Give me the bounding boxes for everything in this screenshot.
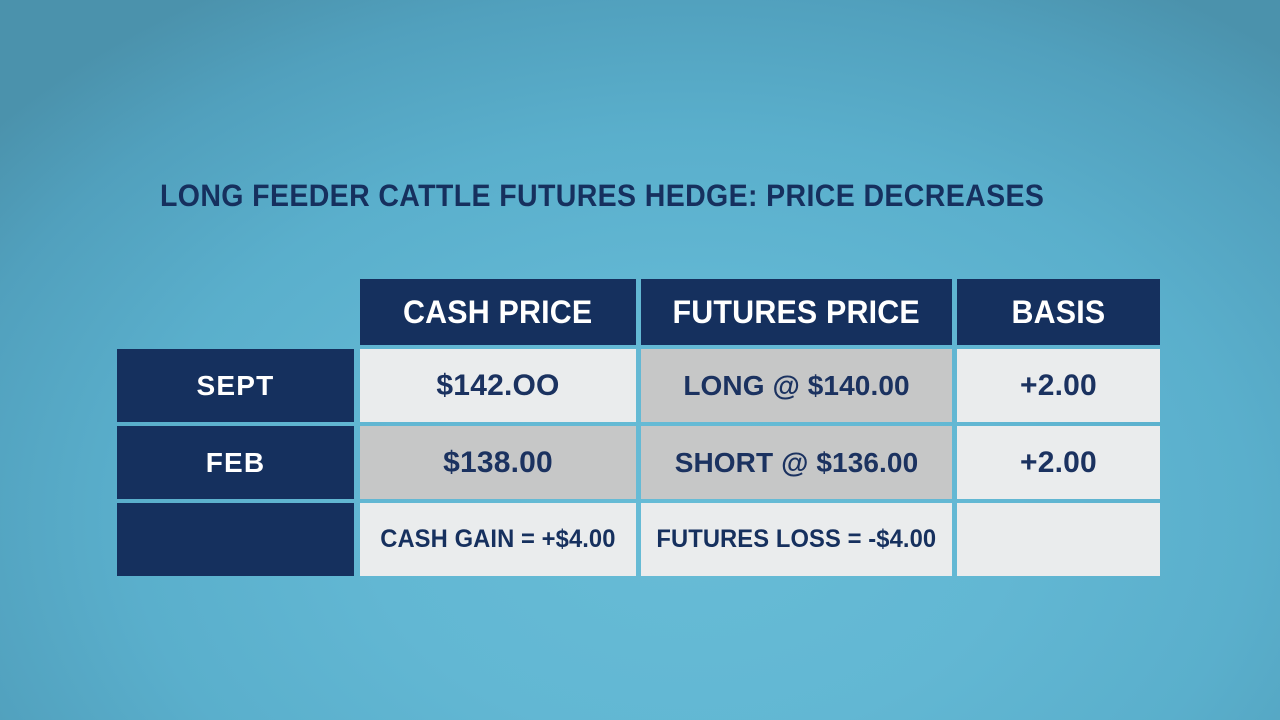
cell-sept-cash-price: $142.OO [360, 349, 636, 422]
row-label-feb: FEB [117, 426, 354, 499]
header-futures-price: FUTURES PRICE [641, 279, 952, 345]
cell-sept-basis: +2.00 [957, 349, 1160, 422]
cell-sept-basis-text: +2.00 [1020, 369, 1097, 403]
table-row: FEB $138.00 SHORT @ $136.00 +2.00 [117, 426, 1160, 499]
row-label-sept: SEPT [117, 349, 354, 422]
summary-futures-loss-text: FUTURES LOSS = -$4.00 [657, 525, 937, 554]
header-cash-price-label: CASH PRICE [403, 294, 592, 331]
cell-feb-futures-price: SHORT @ $136.00 [641, 426, 952, 499]
cell-sept-futures-price: LONG @ $140.00 [641, 349, 952, 422]
hedge-comparison-table: CASH PRICE FUTURES PRICE BASIS SEPT $142… [117, 279, 1160, 576]
cell-feb-futures-price-text: SHORT @ $136.00 [675, 447, 919, 479]
slide-canvas: LONG FEEDER CATTLE FUTURES HEDGE: PRICE … [0, 0, 1280, 720]
summary-cash-gain-text: CASH GAIN = +$4.00 [380, 525, 615, 554]
summary-label-cell [117, 503, 354, 576]
summary-futures-loss: FUTURES LOSS = -$4.00 [641, 503, 952, 576]
table-summary-row: CASH GAIN = +$4.00 FUTURES LOSS = -$4.00 [117, 503, 1160, 576]
header-cash-price: CASH PRICE [360, 279, 636, 345]
table-header-row: CASH PRICE FUTURES PRICE BASIS [117, 279, 1160, 345]
summary-basis-cell [957, 503, 1160, 576]
cell-sept-cash-price-text: $142.OO [436, 369, 559, 403]
summary-cash-gain: CASH GAIN = +$4.00 [360, 503, 636, 576]
cell-feb-cash-price-text: $138.00 [443, 446, 553, 480]
header-basis: BASIS [957, 279, 1160, 345]
header-corner-cell [117, 279, 354, 345]
table-row: SEPT $142.OO LONG @ $140.00 +2.00 [117, 349, 1160, 422]
row-label-feb-text: FEB [206, 447, 266, 479]
cell-sept-futures-price-text: LONG @ $140.00 [683, 370, 909, 402]
header-futures-price-label: FUTURES PRICE [673, 294, 920, 331]
row-label-sept-text: SEPT [197, 370, 275, 402]
cell-feb-cash-price: $138.00 [360, 426, 636, 499]
cell-feb-basis: +2.00 [957, 426, 1160, 499]
page-title: LONG FEEDER CATTLE FUTURES HEDGE: PRICE … [160, 176, 1062, 216]
cell-feb-basis-text: +2.00 [1020, 446, 1097, 480]
header-basis-label: BASIS [1012, 294, 1106, 331]
